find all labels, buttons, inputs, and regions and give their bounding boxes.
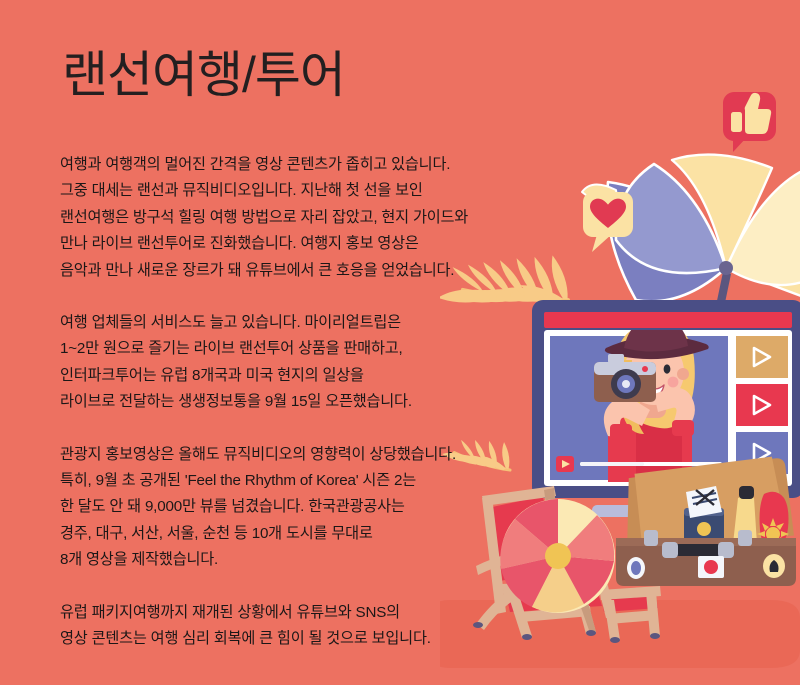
paragraph-3-line-1: 관광지 홍보영상은 올해도 뮤직비디오의 영향력이 상당했습니다. bbox=[60, 442, 490, 468]
paragraph-3-line-2: 특히, 9월 초 공개된 'Feel the Rhythm of Korea' … bbox=[60, 468, 490, 494]
paragraph-2: 여행 업체들의 서비스도 늘고 있습니다. 마이리얼트립은 1~2만 원으로 즐… bbox=[60, 310, 490, 416]
paragraph-1-line-3: 랜선여행은 방구석 힐링 여행 방법으로 자리 잡았고, 현지 가이드와 bbox=[60, 205, 490, 231]
paragraph-4: 유럽 패키지여행까지 재개된 상황에서 유튜브와 SNS의 영상 콘텐츠는 여행… bbox=[60, 600, 490, 653]
paragraph-2-line-4: 라이브로 전달하는 생생정보통을 9월 15일 오픈했습니다. bbox=[60, 389, 490, 415]
beach-ball bbox=[500, 499, 615, 613]
thumbs-up-icon bbox=[723, 92, 776, 152]
paragraph-3-line-3: 한 달도 안 돼 9,000만 뷰를 넘겼습니다. 한국관광공사는 bbox=[60, 494, 490, 520]
video-thumbnail-list[interactable] bbox=[736, 336, 788, 474]
paragraph-4-line-2: 영상 콘텐츠는 여행 심리 회복에 큰 힘이 될 것으로 보입니다. bbox=[60, 626, 490, 652]
paragraph-1-line-4: 만나 라이브 랜선투어로 진화했습니다. 여행지 홍보 영상은 bbox=[60, 231, 490, 257]
article-body: 여행과 여행객의 멀어진 간격을 영상 콘텐츠가 좁히고 있습니다. 그중 대세… bbox=[60, 152, 490, 653]
paragraph-3-line-4: 경주, 대구, 서산, 서울, 순천 등 10개 도시를 무대로 bbox=[60, 521, 490, 547]
paragraph-3-line-5: 8개 영상을 제작했습니다. bbox=[60, 547, 490, 573]
paragraph-1-line-2: 그중 대세는 랜선과 뮤직비디오입니다. 지난해 첫 선을 보인 bbox=[60, 178, 490, 204]
paragraph-3: 관광지 홍보영상은 올해도 뮤직비디오의 영향력이 상당했습니다. 특히, 9월… bbox=[60, 442, 490, 574]
paragraph-2-line-2: 1~2만 원으로 즐기는 라이브 랜선투어 상품을 판매하고, bbox=[60, 336, 490, 362]
text-column: 랜선여행/투어 여행과 여행객의 멀어진 간격을 영상 콘텐츠가 좁히고 있습니… bbox=[0, 0, 500, 685]
paragraph-2-line-3: 인터파크투어는 유럽 8개국과 미국 현지의 일상을 bbox=[60, 363, 490, 389]
open-suitcase bbox=[616, 456, 796, 586]
poster-canvas: 랜선여행/투어 여행과 여행객의 멀어진 간격을 영상 콘텐츠가 좁히고 있습니… bbox=[0, 0, 800, 685]
paragraph-1: 여행과 여행객의 멀어진 간격을 영상 콘텐츠가 좁히고 있습니다. 그중 대세… bbox=[60, 152, 490, 284]
page-title: 랜선여행/투어 bbox=[62, 48, 345, 103]
paragraph-2-line-1: 여행 업체들의 서비스도 늘고 있습니다. 마이리얼트립은 bbox=[60, 310, 490, 336]
paragraph-1-line-1: 여행과 여행객의 멀어진 간격을 영상 콘텐츠가 좁히고 있습니다. bbox=[60, 152, 490, 178]
paragraph-1-line-5: 음악과 만나 새로운 장르가 돼 유튜브에서 큰 호응을 얻었습니다. bbox=[60, 258, 490, 284]
paragraph-4-line-1: 유럽 패키지여행까지 재개된 상황에서 유튜브와 SNS의 bbox=[60, 600, 490, 626]
